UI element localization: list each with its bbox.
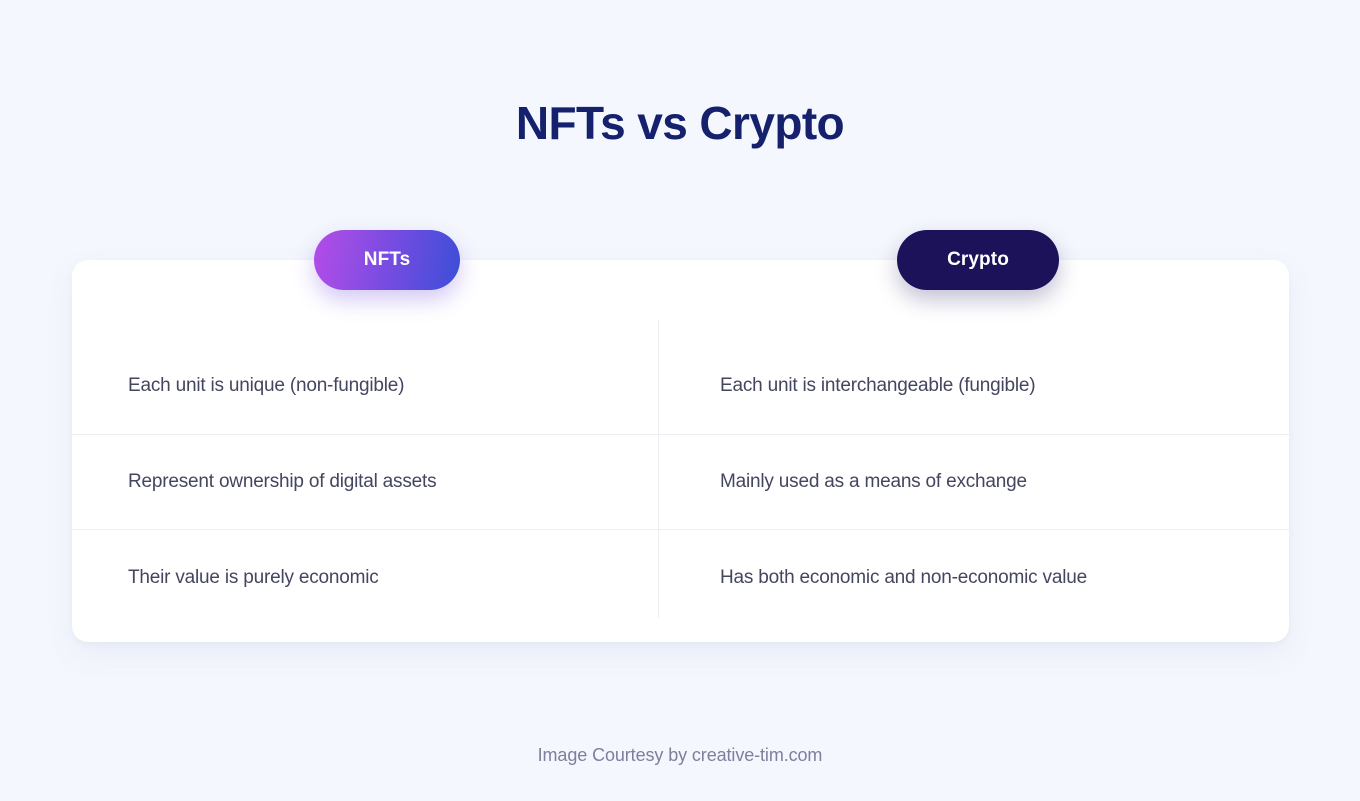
cell-crypto-1: Each unit is interchangeable (fungible)	[658, 338, 1289, 434]
comparison-card: Each unit is unique (non-fungible) Each …	[72, 260, 1289, 642]
cell-crypto-2: Mainly used as a means of exchange	[658, 435, 1289, 529]
table-row: Each unit is unique (non-fungible) Each …	[72, 338, 1289, 434]
badge-crypto: Crypto	[897, 230, 1059, 290]
table-row: Their value is purely economic Has both …	[72, 530, 1289, 626]
cell-nfts-3: Their value is purely economic	[72, 530, 658, 626]
page-title: NFTs vs Crypto	[0, 96, 1360, 151]
cell-nfts-2: Represent ownership of digital assets	[72, 435, 658, 529]
cell-nfts-1: Each unit is unique (non-fungible)	[72, 338, 658, 434]
cell-crypto-3: Has both economic and non-economic value	[658, 530, 1289, 626]
table-row: Represent ownership of digital assets Ma…	[72, 434, 1289, 530]
comparison-infographic: NFTs vs Crypto Each unit is unique (non-…	[0, 0, 1360, 801]
footer-credit: Image Courtesy by creative-tim.com	[0, 745, 1360, 766]
comparison-rows: Each unit is unique (non-fungible) Each …	[72, 260, 1289, 642]
badge-nfts: NFTs	[314, 230, 460, 290]
